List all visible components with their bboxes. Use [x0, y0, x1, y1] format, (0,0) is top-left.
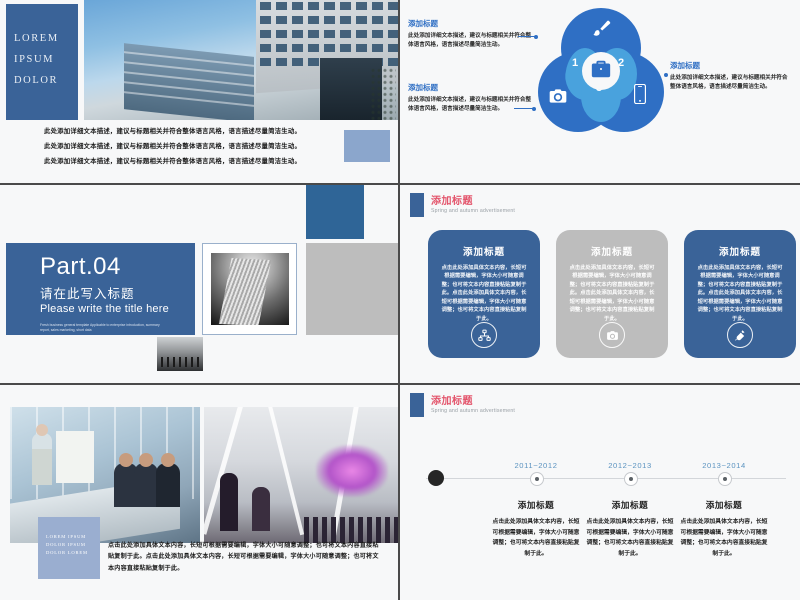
card-body: 点击此处添加具体文本内容，长短可根据需要编辑，字体大小可随意调整；也可将文本内容…: [568, 264, 656, 323]
attendee-figure-2: [134, 463, 158, 507]
slide-4-three-cards[interactable]: 添加标题 Spring and autumn advertisement 添加标…: [400, 185, 800, 385]
section-fine-print: Fresh business general template Applicab…: [40, 323, 167, 334]
presenter-figure: [32, 433, 52, 485]
briefcase-icon: [590, 58, 612, 85]
milestone-body: 点击此处添加具体文本内容，长短可根据需要编辑，字体大小可随意调整；也可将文本内容…: [584, 517, 676, 560]
milestone-year: 2012~2013: [578, 461, 682, 470]
venn-callout-top-left: 添加标题 此处添加详细文本描述，建议与标题相关并符合整体语言风格，语言描述尽量简…: [408, 18, 536, 49]
small-photo-lobby: [157, 337, 203, 371]
sitemap-icon[interactable]: [471, 322, 497, 348]
venn-center: [582, 52, 620, 90]
timeline-milestones: 2011~2012 添加标题 点击此处添加具体文本内容，长短可根据需要编辑，字体…: [400, 385, 800, 600]
body-line-3: 此处添加详细文本描述，建议与标题相关并符合整体语言风格，语言描述尽量简洁生动。: [44, 156, 392, 165]
tree-silhouette: [370, 68, 396, 120]
attendee-figure-3: [156, 463, 180, 507]
card-2[interactable]: 添加标题 点击此处添加具体文本内容，长短可根据需要编辑，字体大小可随意调整；也可…: [556, 230, 668, 358]
callout-title: 添加标题: [408, 82, 536, 93]
lorem-sidebar-text: LOREM IPSUM DOLOR: [6, 4, 78, 91]
callout-arrow-bottom-left: [514, 108, 534, 109]
venn-number-1: 1: [572, 57, 578, 69]
card-1[interactable]: 添加标题 点击此处添加具体文本内容，长短可根据需要编辑，字体大小可随意调整；也可…: [428, 230, 540, 358]
header-title: 添加标题: [431, 196, 515, 207]
card-title: 添加标题: [719, 244, 761, 258]
camera-icon[interactable]: [599, 322, 625, 348]
venn-diagram: 1 2 3: [538, 8, 664, 134]
section-title-band: Part.04 请在此写入标题 Please write the title h…: [6, 243, 195, 335]
lorem-line-2: DOLOR IPSUM: [46, 541, 100, 549]
callout-arrow-top-left: [518, 36, 536, 37]
slide-2-venn[interactable]: 添加标题 此处添加详细文本描述，建议与标题相关并符合整体语言风格，语言描述尽量简…: [400, 0, 800, 185]
lorem-line-1: LOREM: [14, 28, 78, 49]
lorem-sidebar-block: LOREM IPSUM DOLOR: [6, 4, 78, 120]
skyscraper-image: [211, 253, 289, 325]
decorative-blue-square: [344, 130, 390, 162]
milestone-year: 2013~2014: [672, 461, 776, 470]
part-number-label: Part.04: [40, 255, 195, 279]
callout-title: 添加标题: [670, 60, 792, 71]
framed-photo-skyscraper: [202, 243, 297, 335]
camera-icon: [548, 86, 568, 111]
milestone-title: 添加标题: [484, 499, 588, 511]
plug-icon[interactable]: [727, 322, 753, 348]
slide-4-header: 添加标题 Spring and autumn advertisement: [410, 193, 515, 217]
lorem-line-2: IPSUM: [14, 49, 78, 70]
milestone-year: 2011~2012: [484, 461, 588, 470]
milestone-title: 添加标题: [578, 499, 682, 511]
milestone-body: 点击此处添加具体文本内容，长短可根据需要编辑，字体大小可随意调整；也可将文本内容…: [490, 517, 582, 560]
magenta-light-installation: [316, 445, 388, 497]
slide-6-timeline[interactable]: 添加标题 Spring and autumn advertisement 201…: [400, 385, 800, 600]
lorem-overlay-square: LOREM IPSUM DOLOR IPSUM DOLOR LOREM: [38, 517, 100, 579]
section-title-en: Please write the title here: [40, 303, 195, 315]
foreground-figure-2: [252, 487, 270, 531]
callout-body: 此处添加详细文本描述，建议与标题相关并符合整体语言风格，语言描述尽量简洁生动。: [408, 32, 536, 49]
lorem-line-3: DOLOR: [14, 70, 78, 91]
slide-1-body-text: 此处添加详细文本描述，建议与标题相关并符合整体语言风格，语言描述尽量简洁生动。 …: [6, 126, 392, 171]
flipchart-shape: [56, 431, 94, 483]
exhibition-venue-photo: [204, 407, 400, 543]
callout-title: 添加标题: [408, 18, 536, 29]
decorative-blue-square: [306, 185, 364, 239]
section-title-cn: 请在此写入标题: [40, 283, 195, 302]
callout-body: 此处添加详细文本描述，建议与标题相关并符合整体语言风格，语言描述尽量简洁生动。: [670, 74, 792, 91]
office-building-photo: [84, 0, 400, 120]
lorem-line-3: DOLOR LOREM: [46, 549, 100, 557]
decorative-gray-square: [306, 243, 400, 335]
paintbrush-icon: [590, 18, 612, 45]
card-3[interactable]: 添加标题 点击此处添加具体文本内容，长短可根据需要编辑，字体大小可随意调整；也可…: [684, 230, 796, 358]
milestone-body: 点击此处添加具体文本内容，长短可根据需要编辑，字体大小可随意调整；也可将文本内容…: [678, 517, 770, 560]
body-line-1: 此处添加详细文本描述，建议与标题相关并符合整体语言风格，语言描述尽量简洁生动。: [44, 126, 392, 135]
slide-thumbnail-grid: LOREM IPSUM DOLOR 此处添加详细文本描述，建议与标题相关并符合整…: [0, 0, 800, 600]
lorem-line-1: LOREM IPSUM: [46, 533, 100, 541]
slide-1-cover[interactable]: LOREM IPSUM DOLOR 此处添加详细文本描述，建议与标题相关并符合整…: [0, 0, 400, 185]
card-body: 点击此处添加具体文本内容，长短可根据需要编辑，字体大小可随意调整；也可将文本内容…: [440, 264, 528, 323]
lorem-overlay-text: LOREM IPSUM DOLOR IPSUM DOLOR LOREM: [38, 517, 100, 556]
card-title: 添加标题: [591, 244, 633, 258]
smartphone-icon: [634, 84, 646, 109]
slide-5-photo-collage[interactable]: LOREM IPSUM DOLOR IPSUM DOLOR LOREM 点击此处…: [0, 385, 400, 600]
milestone-title: 添加标题: [672, 499, 776, 511]
card-body: 点击此处添加具体文本内容，长短可根据需要编辑，字体大小可随意调整；也可将文本内容…: [696, 264, 784, 323]
foreground-figure-1: [220, 473, 238, 531]
header-subtitle: Spring and autumn advertisement: [431, 209, 515, 215]
paragraph-text: 点击此处添加具体文本内容，长短可根据需要编辑，字体大小可随意调整；也可将文本内容…: [108, 540, 384, 574]
body-line-2: 此处添加详细文本描述，建议与标题相关并符合整体语言风格，语言描述尽量简洁生动。: [44, 141, 392, 150]
venn-callout-right: 添加标题 此处添加详细文本描述，建议与标题相关并符合整体语言风格，语言描述尽量简…: [670, 60, 792, 91]
callout-body: 此处添加详细文本描述，建议与标题相关并符合整体语言风格，语言描述尽量简洁生动。: [408, 96, 536, 113]
card-row: 添加标题 点击此处添加具体文本内容，长短可根据需要编辑，字体大小可随意调整；也可…: [428, 230, 796, 358]
slide-5-paragraph: 点击此处添加具体文本内容，长短可根据需要编辑，字体大小可随意调整；也可将文本内容…: [108, 540, 384, 574]
curved-glass-building-shape: [124, 43, 254, 120]
header-accent-bar: [410, 193, 424, 217]
slide-3-section-divider[interactable]: Part.04 请在此写入标题 Please write the title h…: [0, 185, 400, 385]
card-title: 添加标题: [463, 244, 505, 258]
